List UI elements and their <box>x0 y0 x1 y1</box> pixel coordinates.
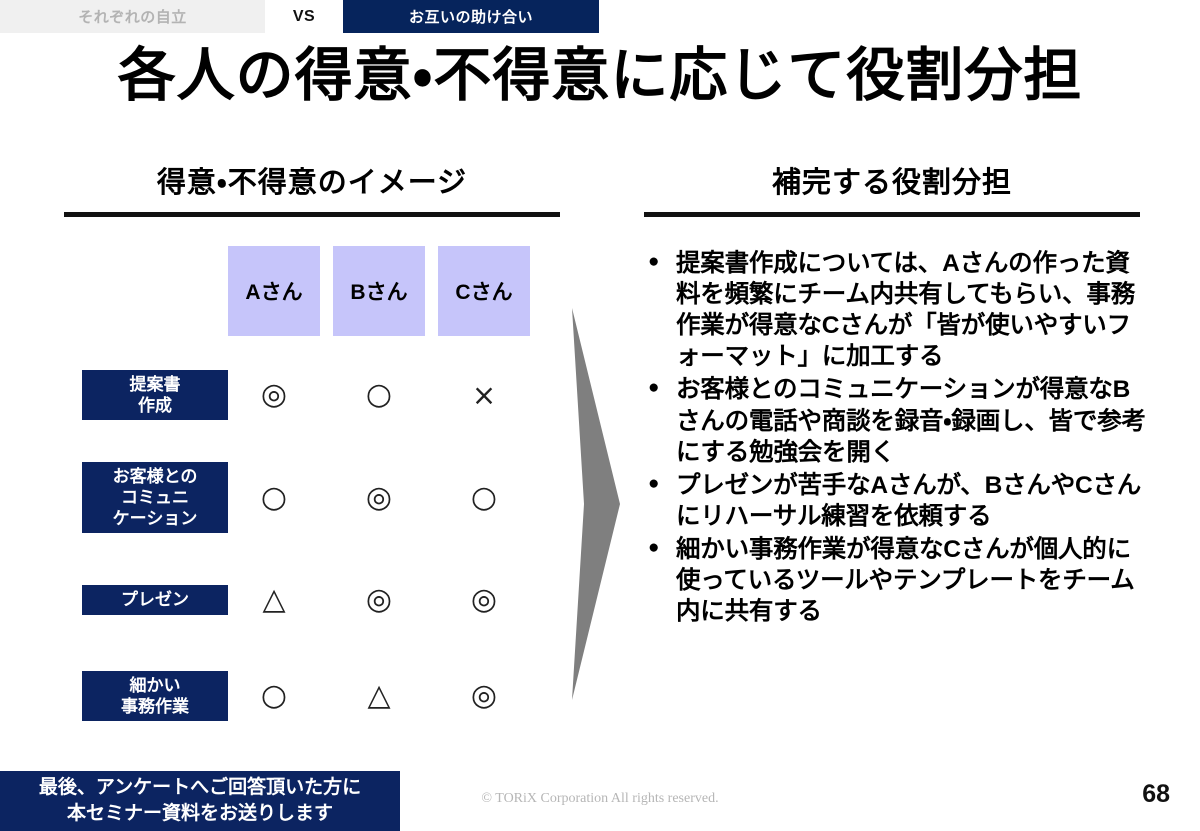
matrix-column-header-b-label: Bさん <box>350 276 407 306</box>
rating-mark-icon: ○ <box>261 483 287 513</box>
skill-matrix: Aさん Bさん Cさん 提案書作成 ◎ ○ × <box>64 246 564 737</box>
matrix-corner-spacer <box>64 246 228 336</box>
list-item-text: 細かい事務作業が得意なCさんが個人的に使っているツールやテンプレートをチーム内に… <box>676 534 1148 627</box>
matrix-cell-communication-c: ○ <box>438 450 530 545</box>
right-section-heading: 補完する役割分担 <box>644 168 1140 200</box>
matrix-cell-clerical-b: △ <box>333 655 425 737</box>
matrix-row-label-clerical: 細かい事務作業 <box>82 671 228 722</box>
rating-mark-icon: × <box>472 381 496 410</box>
matrix-row-label-communication: お客様とのコミュニケーション <box>82 462 228 534</box>
matrix-cell-proposal-a: ◎ <box>228 354 320 436</box>
left-section-heading: 得意・不得意のイメージ <box>64 168 560 200</box>
matrix-cell-communication-a: ○ <box>228 450 320 545</box>
right-arrow-icon <box>570 308 622 700</box>
slide-root: それぞれの自立 VS お互いの助け合い 各人の得意・不得意に応じて役割分担 得意… <box>0 0 1200 831</box>
tab-independence-label: それぞれの自立 <box>78 6 187 27</box>
matrix-column-header-c-label: Cさん <box>455 276 512 306</box>
tab-mutual-help[interactable]: お互いの助け合い <box>343 0 599 33</box>
rating-mark-icon: △ <box>262 585 285 615</box>
topic-tab-strip: それぞれの自立 VS お互いの助け合い <box>0 0 599 33</box>
bullet-dot-icon: ● <box>648 470 676 499</box>
matrix-cell-proposal-b: ○ <box>333 354 425 436</box>
list-item: ● お客様とのコミュニケーションが得意なBさんの電話や商談を録音・録画し、皆で参… <box>648 374 1148 467</box>
matrix-column-header-row: Aさん Bさん Cさん <box>64 246 564 336</box>
matrix-cell-clerical-c: ◎ <box>438 655 530 737</box>
page-number: 68 <box>1142 780 1170 809</box>
left-section-divider <box>64 212 560 217</box>
tab-vs-separator: VS <box>265 0 343 33</box>
matrix-row: 細かい事務作業 ○ △ ◎ <box>64 655 564 737</box>
matrix-row: プレゼン △ ◎ ◎ <box>64 559 564 641</box>
role-division-bullet-list: ● 提案書作成については、Aさんの作った資料を頻繁にチーム内共有してもらい、事務… <box>648 248 1148 629</box>
bullet-dot-icon: ● <box>648 534 676 563</box>
rating-mark-icon: ○ <box>261 681 287 711</box>
tab-mutual-help-label: お互いの助け合い <box>409 6 533 27</box>
rating-mark-icon: ◎ <box>366 483 392 513</box>
bullet-dot-icon: ● <box>648 248 676 277</box>
matrix-cell-clerical-a: ○ <box>228 655 320 737</box>
list-item: ● 細かい事務作業が得意なCさんが個人的に使っているツールやテンプレートをチーム… <box>648 534 1148 627</box>
matrix-cell-presentation-a: △ <box>228 559 320 641</box>
matrix-cell-proposal-c: × <box>438 354 530 436</box>
matrix-row-label-presentation: プレゼン <box>82 585 228 614</box>
bullet-dot-icon: ● <box>648 374 676 403</box>
matrix-row-label-cell: 提案書作成 <box>64 354 228 436</box>
rating-mark-icon: ◎ <box>471 681 497 711</box>
matrix-row: 提案書作成 ◎ ○ × <box>64 354 564 436</box>
list-item-text: お客様とのコミュニケーションが得意なBさんの電話や商談を録音・録画し、皆で参考に… <box>676 374 1148 467</box>
matrix-column-header-c: Cさん <box>438 246 530 336</box>
matrix-row: お客様とのコミュニケーション ○ ◎ ○ <box>64 450 564 545</box>
rating-mark-icon: ○ <box>471 483 497 513</box>
left-section: 得意・不得意のイメージ <box>64 168 560 217</box>
rating-mark-icon: ◎ <box>366 585 392 615</box>
matrix-row-label-cell: プレゼン <box>64 559 228 641</box>
matrix-column-header-a-label: Aさん <box>245 276 302 306</box>
matrix-cell-communication-b: ◎ <box>333 450 425 545</box>
matrix-column-header-a: Aさん <box>228 246 320 336</box>
matrix-row-label-cell: 細かい事務作業 <box>64 655 228 737</box>
right-section-divider <box>644 212 1140 217</box>
vs-label: VS <box>293 8 315 26</box>
list-item: ● 提案書作成については、Aさんの作った資料を頻繁にチーム内共有してもらい、事務… <box>648 248 1148 372</box>
matrix-row-label-proposal: 提案書作成 <box>82 370 228 421</box>
matrix-cell-presentation-c: ◎ <box>438 559 530 641</box>
rating-mark-icon: ◎ <box>261 380 287 410</box>
matrix-cell-presentation-b: ◎ <box>333 559 425 641</box>
copyright-text: © TORiX Corporation All rights reserved. <box>0 791 1200 807</box>
slide-title: 各人の得意・不得意に応じて役割分担 <box>0 46 1200 107</box>
list-item-text: プレゼンが苦手なAさんが、BさんやCさんにリハーサル練習を依頼する <box>676 470 1148 532</box>
right-section: 補完する役割分担 <box>644 168 1140 217</box>
matrix-column-header-b: Bさん <box>333 246 425 336</box>
rating-mark-icon: ○ <box>366 380 392 410</box>
list-item-text: 提案書作成については、Aさんの作った資料を頻繁にチーム内共有してもらい、事務作業… <box>676 248 1148 372</box>
tab-independence[interactable]: それぞれの自立 <box>0 0 265 33</box>
rating-mark-icon: △ <box>367 681 390 711</box>
list-item: ● プレゼンが苦手なAさんが、BさんやCさんにリハーサル練習を依頼する <box>648 470 1148 532</box>
rating-mark-icon: ◎ <box>471 585 497 615</box>
matrix-row-label-cell: お客様とのコミュニケーション <box>64 450 228 545</box>
